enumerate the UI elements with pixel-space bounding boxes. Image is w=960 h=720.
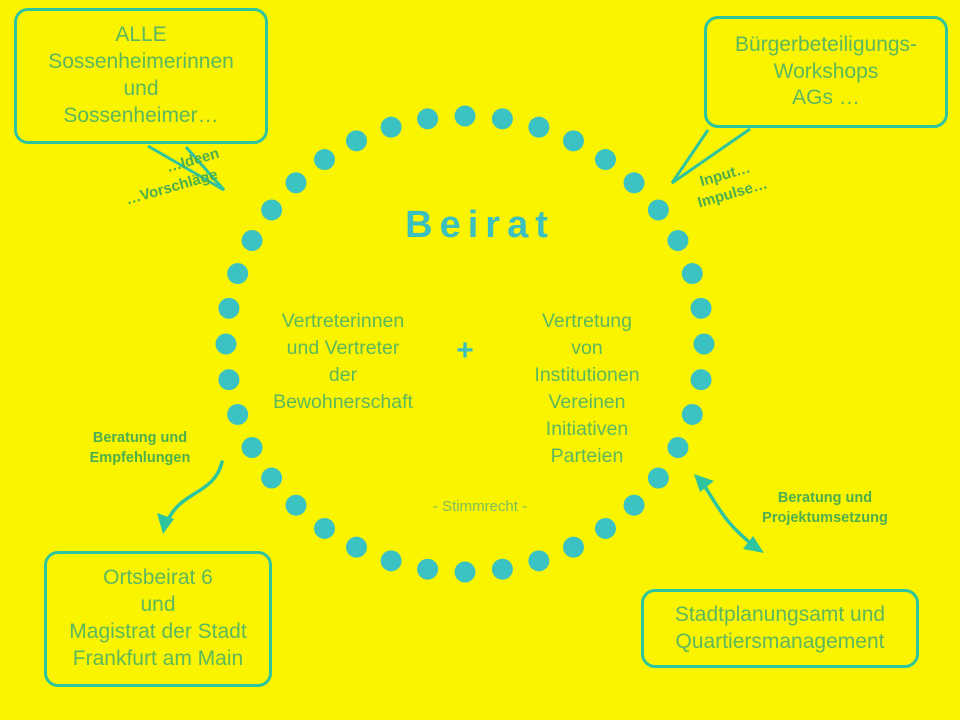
diagram-canvas: ALLE Sossenheimerinnen und Sossenheimer…… (0, 0, 960, 720)
plus-icon: + (447, 336, 483, 366)
center-right-line-5: Initiativen (499, 416, 675, 443)
center-right-line-3: Institutionen (499, 362, 675, 389)
center-left-line-1: Vertreterinnen (255, 308, 431, 335)
arrow-head-up-left (694, 474, 714, 492)
callout-residents-line-2: Sossenheimerinnen (48, 49, 234, 76)
callout-workshops-line-2: Workshops (774, 59, 879, 86)
center-left-line-2: und Vertreter (255, 335, 431, 362)
callout-stadtplanungsamt[interactable]: Stadtplanungsamt und Quartiersmanagement (641, 589, 919, 668)
center-right-line-1: Vertretung (499, 308, 675, 335)
center-title: Beirat (0, 204, 960, 247)
center-left-line-4: Bewohnerschaft (255, 389, 431, 416)
center-column-left: Vertreterinnen und Vertreter der Bewohne… (255, 308, 431, 416)
callout-workshops[interactable]: Bürgerbeteiligungs- Workshops AGs … (704, 16, 948, 128)
callout-ortsbeirat-line-2: und (140, 592, 175, 619)
flow-label-beratung-empfehlungen: Beratung und Empfehlungen (75, 428, 205, 468)
callout-residents-line-4: Sossenheimer… (63, 103, 218, 130)
callout-residents[interactable]: ALLE Sossenheimerinnen und Sossenheimer… (14, 8, 268, 144)
flow-label-beratung-empfehlungen-line-2: Empfehlungen (90, 450, 191, 466)
center-note-stimmrecht: - Stimmrecht - (0, 498, 960, 515)
center-column-right: Vertretung von Institutionen Vereinen In… (499, 308, 675, 469)
center-left-line-3: der (255, 362, 431, 389)
center-right-line-4: Vereinen (499, 389, 675, 416)
callout-ortsbeirat-line-4: Frankfurt am Main (73, 646, 243, 673)
flow-label-beratung-empfehlungen-line-1: Beratung und (93, 430, 187, 446)
callout-workshops-line-1: Bürgerbeteiligungs- (735, 32, 917, 59)
callout-residents-line-3: und (123, 76, 158, 103)
center-right-line-6: Parteien (499, 443, 675, 470)
callout-stadtplanungsamt-line-2: Quartiersmanagement (676, 629, 885, 656)
callout-ortsbeirat-line-1: Ortsbeirat 6 (103, 565, 213, 592)
callout-residents-line-1: ALLE (115, 22, 166, 49)
center-right-line-2: von (499, 335, 675, 362)
arrow-beratung-empfehlungen (166, 462, 222, 525)
center-columns: Vertreterinnen und Vertreter der Bewohne… (255, 308, 675, 469)
callout-workshops-line-3: AGs … (792, 85, 860, 112)
callout-ortsbeirat[interactable]: Ortsbeirat 6 und Magistrat der Stadt Fra… (44, 551, 272, 687)
callout-ortsbeirat-line-3: Magistrat der Stadt (69, 619, 246, 646)
callout-stadtplanungsamt-line-1: Stadtplanungsamt und (675, 602, 885, 629)
